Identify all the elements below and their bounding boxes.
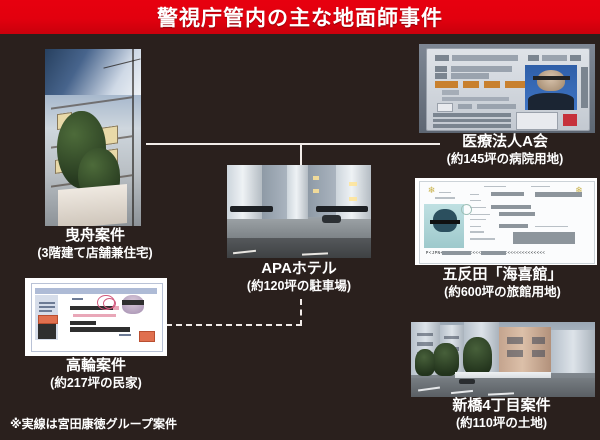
title-en <box>435 197 455 199</box>
road-surface <box>227 238 371 258</box>
expiry-row <box>433 119 510 123</box>
field-label <box>435 55 449 61</box>
text-line <box>39 306 55 308</box>
high-rise-right <box>551 330 595 374</box>
photo-hikifune-building <box>45 49 141 226</box>
expiry-row <box>433 113 510 117</box>
node-detail-gotanda-kaikikan: (約600坪の旅館用地) <box>405 285 600 299</box>
node-medical-corp-a <box>419 44 595 133</box>
hologram-ring <box>461 204 472 215</box>
field-value <box>458 104 472 109</box>
tower-center <box>287 165 307 221</box>
redaction-block <box>70 327 130 332</box>
redaction-block <box>442 251 471 255</box>
utility-pole <box>132 49 134 226</box>
country-en <box>531 186 549 188</box>
field-label <box>528 55 539 61</box>
field-label-issuer <box>435 66 447 71</box>
class-matrix <box>516 112 558 130</box>
field-value <box>451 73 490 78</box>
node-detail-shinbashi-4chome: (約110坪の土地) <box>403 416 600 430</box>
window <box>507 350 524 357</box>
document-drivers-license <box>419 44 595 133</box>
parking-canopy-left <box>230 206 273 213</box>
window <box>444 336 459 340</box>
node-hikifune <box>45 49 141 226</box>
field-code <box>470 200 481 202</box>
caption-gotanda-kaikikan: 五反田「海喜館」 (約600坪の旅館用地) <box>405 267 600 299</box>
parking-lot-surface <box>227 219 371 238</box>
field-nationality-ja <box>470 214 490 216</box>
field-value <box>452 55 517 61</box>
window <box>417 342 434 346</box>
node-title-hikifune: 曳舟案件 <box>0 228 190 245</box>
issuer-value <box>451 66 513 71</box>
era-band <box>484 81 500 87</box>
redaction-block <box>70 321 96 325</box>
lit-window <box>313 176 319 180</box>
street-tree <box>415 349 435 376</box>
caption-takanawa: 高輪案件 (約217坪の民家) <box>10 358 182 390</box>
connector-solid-trunk <box>146 143 440 145</box>
caption-medical-corp-a: 医療法人A会 (約145坪の病院用地) <box>410 134 600 166</box>
red-marker <box>563 114 577 126</box>
privacy-bar <box>430 220 461 224</box>
redaction-block <box>535 192 582 197</box>
node-title-shinbashi-4chome: 新橋4丁目案件 <box>403 398 600 415</box>
street-tree <box>463 337 492 376</box>
node-gotanda-kaikikan: ❄ ❄ P<JPN<<<<<<<<<<<<<<<<<< <box>415 178 597 265</box>
caption-apa-hotel: APAホテル (約120坪の駐車場) <box>210 261 388 293</box>
node-title-medical-corp-a: 医療法人A会 <box>410 134 600 151</box>
field-signature-label <box>535 226 568 228</box>
field-surname <box>470 207 486 209</box>
field-value <box>542 55 567 61</box>
text-line <box>39 310 52 312</box>
license-class-grid <box>437 103 453 112</box>
boundary-wall <box>58 184 127 226</box>
portrait-area <box>122 295 145 314</box>
field-value <box>477 104 516 109</box>
field-value <box>442 90 460 94</box>
title-banner: 警視庁管内の主な地面師事件 <box>0 0 600 34</box>
header-band <box>35 288 157 293</box>
parking-canopy-right <box>316 206 368 213</box>
expiry-row <box>433 124 510 128</box>
node-title-apa-hotel: APAホテル <box>210 261 388 278</box>
lit-window <box>349 182 356 187</box>
text-line <box>39 302 55 304</box>
photo-apa-parking <box>227 165 371 258</box>
red-stamp <box>38 315 58 323</box>
node-apa-hotel <box>227 165 371 258</box>
caption-hikifune: 曳舟案件 (3階建て店舗兼住宅) <box>0 228 190 260</box>
field-nationality-en <box>470 219 486 221</box>
document-takanawa-certificate <box>25 278 167 356</box>
title-ja <box>439 192 452 194</box>
redaction-block <box>499 212 535 216</box>
footnote-legend: ※実線は宮田康徳グループ案件 <box>10 415 177 432</box>
infographic-canvas: 警視庁管内の主な地面師事件 曳舟案件 (3階建て店舗兼住宅) <box>0 0 600 440</box>
redaction-block <box>491 192 524 196</box>
highlight-band <box>73 314 116 317</box>
window <box>532 350 545 357</box>
caption-shinbashi-4chome: 新橋4丁目案件 (約110坪の土地) <box>403 398 600 430</box>
redaction-block <box>481 251 506 255</box>
document-passport: ❄ ❄ P<JPN<<<<<<<<<<<<<<<<<< <box>415 178 597 265</box>
country-ja <box>484 186 506 188</box>
connector-dashed-apa-vertical <box>300 299 302 326</box>
portrait-face <box>537 70 565 91</box>
redaction-block <box>499 224 528 228</box>
red-stamp <box>139 331 155 342</box>
photo-shinbashi-street <box>411 322 595 397</box>
lit-window <box>313 189 319 193</box>
node-detail-apa-hotel: (約120坪の駐車場) <box>210 279 388 293</box>
lit-window <box>349 197 356 202</box>
chrysanthemum-crest-left: ❄ <box>428 186 436 195</box>
tower-left <box>227 165 262 223</box>
node-takanawa <box>25 278 167 356</box>
redaction-block <box>491 205 531 209</box>
field-value <box>442 97 509 101</box>
text-line <box>72 298 83 300</box>
field-label <box>435 73 447 78</box>
node-shinbashi-4chome <box>411 322 595 397</box>
field-type <box>470 194 479 196</box>
portrait-shoulders <box>528 93 574 110</box>
node-title-takanawa: 高輪案件 <box>10 358 182 375</box>
era-band <box>463 81 479 87</box>
connector-dashed-takanawa-horizontal <box>166 324 302 326</box>
redaction-block <box>122 300 145 305</box>
parked-bicycle <box>459 379 476 384</box>
tower-far-right <box>336 165 371 225</box>
field-place-en <box>470 231 485 233</box>
page-title: 警視庁管内の主な地面師事件 <box>157 2 443 32</box>
window <box>532 337 545 344</box>
field-authority <box>470 238 495 240</box>
text-line <box>119 334 132 336</box>
node-title-gotanda-kaikikan: 五反田「海喜館」 <box>405 267 600 284</box>
era-band <box>435 81 458 87</box>
node-detail-hikifune: (3階建て店舗兼住宅) <box>0 246 190 260</box>
field-place-ja <box>470 226 481 228</box>
window <box>507 337 524 344</box>
window <box>417 333 434 337</box>
parked-car <box>322 215 341 222</box>
signature-redaction <box>513 232 575 244</box>
node-detail-medical-corp-a: (約145坪の病院用地) <box>410 152 600 166</box>
vertical-title-unten <box>581 67 588 108</box>
privacy-bar <box>533 76 570 80</box>
redaction-block <box>38 322 56 339</box>
connector-solid-branch-apa <box>300 143 302 167</box>
node-detail-takanawa: (約217坪の民家) <box>10 376 182 390</box>
field-label <box>570 55 581 61</box>
